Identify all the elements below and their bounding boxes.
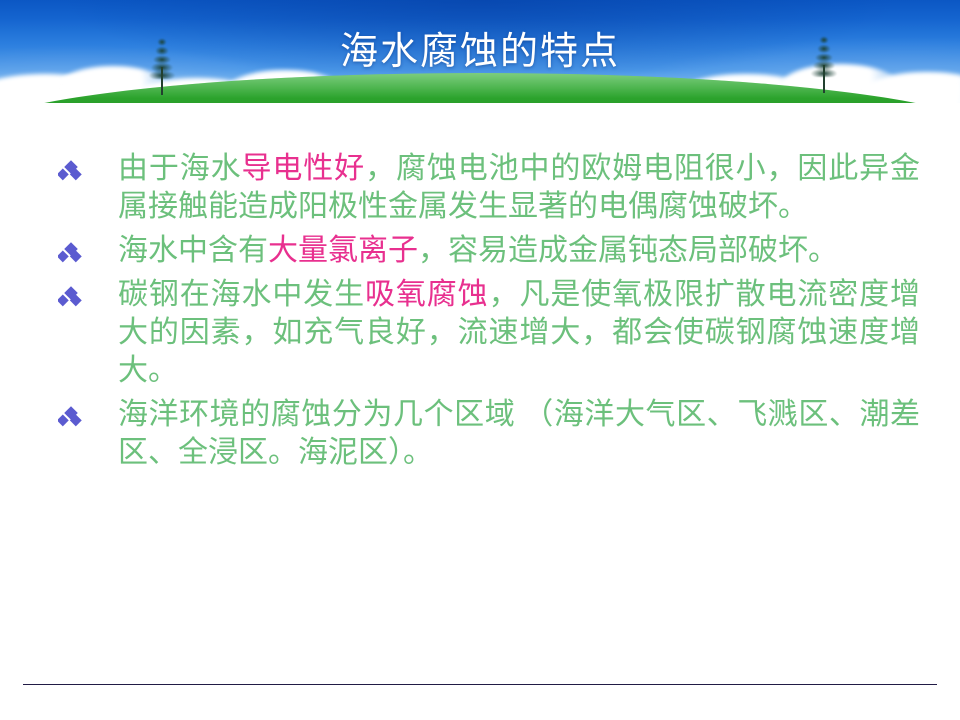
bullet-segment: ，容易造成金属钝态局部破坏。 — [418, 234, 838, 267]
slide-body: 由于海水导电性好，腐蚀电池中的欧姆电阻很小，因此异金属接触能造成阳极性金属发生显… — [0, 150, 960, 478]
diamond-cluster-icon — [58, 406, 84, 430]
bullet-item-3: 碳钢在海水中发生吸氧腐蚀，凡是使氧极限扩散电流密度增大的因素，如充气良好，流速增… — [0, 276, 960, 390]
slide-title: 海水腐蚀的特点 — [0, 28, 960, 76]
bullet-item-1-text: 由于海水导电性好，腐蚀电池中的欧姆电阻很小，因此异金属接触能造成阳极性金属发生显… — [118, 150, 920, 226]
slide-header-banner: 海水腐蚀的特点 — [0, 0, 960, 103]
bullet-item-2-text: 海水中含有大量氯离子，容易造成金属钝态局部破坏。 — [118, 232, 920, 270]
diamond-cluster-icon — [58, 286, 84, 310]
bullet-segment: 碳钢在海水中发生 — [118, 278, 365, 311]
footer-divider — [23, 684, 937, 685]
bullet-segment: 海洋环境的腐蚀分为几个区域 （海洋大气区、飞溅区、潮差区、全浸区。海泥区）。 — [118, 398, 920, 469]
bullet-segment-highlight: 吸氧腐蚀 — [365, 278, 489, 311]
bullet-segment-highlight: 大量氯离子 — [268, 234, 418, 267]
bullet-segment: 海水中含有 — [118, 234, 268, 267]
diamond-cluster-icon — [58, 242, 84, 266]
bullet-item-3-text: 碳钢在海水中发生吸氧腐蚀，凡是使氧极限扩散电流密度增大的因素，如充气良好，流速增… — [118, 276, 920, 390]
bullet-item-4-text: 海洋环境的腐蚀分为几个区域 （海洋大气区、飞溅区、潮差区、全浸区。海泥区）。 — [118, 396, 920, 472]
bullet-item-4: 海洋环境的腐蚀分为几个区域 （海洋大气区、飞溅区、潮差区、全浸区。海泥区）。 — [0, 396, 960, 472]
bullet-item-1: 由于海水导电性好，腐蚀电池中的欧姆电阻很小，因此异金属接触能造成阳极性金属发生显… — [0, 150, 960, 226]
bullet-segment: 由于海水 — [118, 152, 242, 185]
presentation-slide: 海水腐蚀的特点 由于海水导电性好，腐蚀电池中的欧姆电阻很小，因此异金属接触能造成… — [0, 0, 960, 720]
bullet-segment-highlight: 导电性好 — [242, 152, 366, 185]
bullet-item-2: 海水中含有大量氯离子，容易造成金属钝态局部破坏。 — [0, 232, 960, 270]
diamond-cluster-icon — [58, 160, 84, 184]
